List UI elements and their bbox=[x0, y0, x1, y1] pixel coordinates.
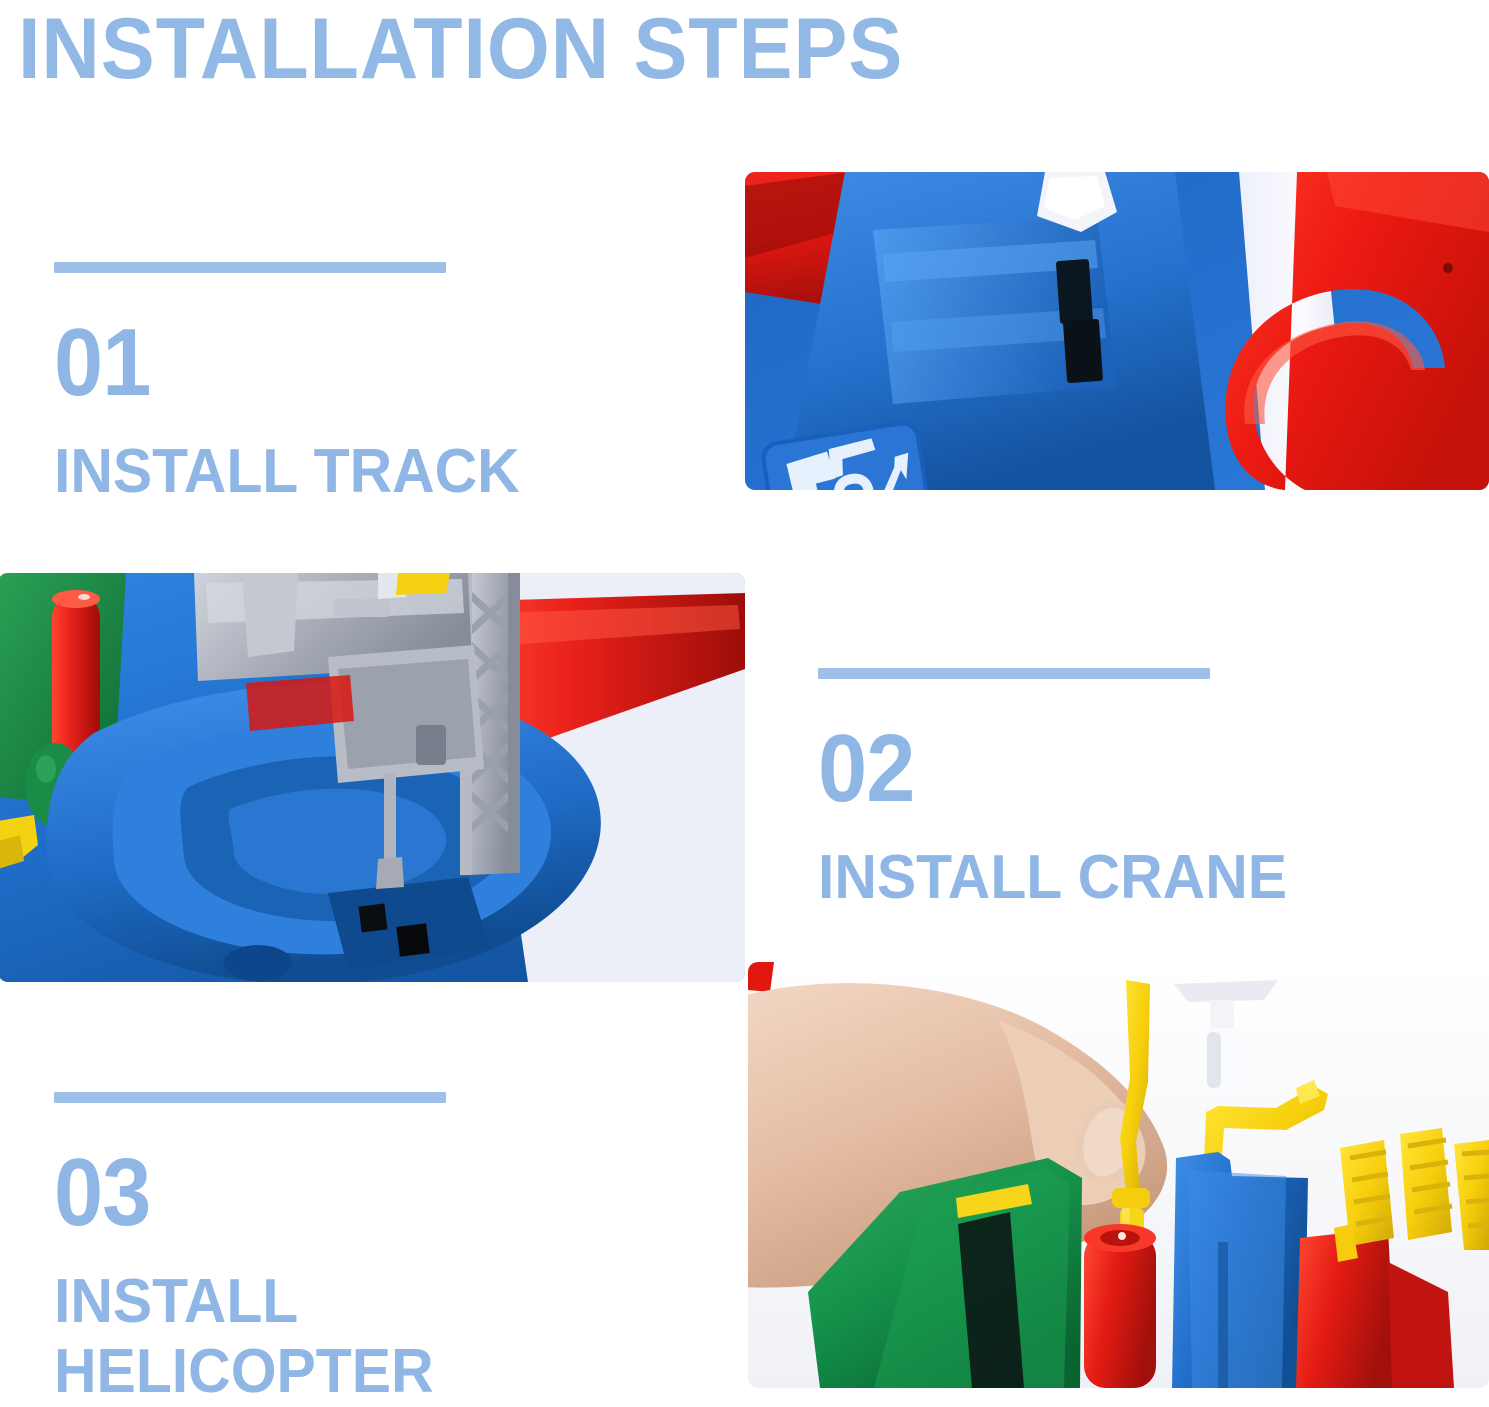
step-rule-02 bbox=[818, 668, 1210, 679]
photo-install-helicopter bbox=[748, 962, 1489, 1388]
step-number-01: 01 bbox=[54, 315, 505, 411]
photo-install-crane-image bbox=[0, 573, 745, 982]
step-label-01: INSTALL TRACK bbox=[54, 437, 520, 507]
photo-install-helicopter-image bbox=[748, 962, 1489, 1388]
step-block-03: 03 INSTALL HELICOPTER bbox=[54, 1092, 454, 1407]
page-title: INSTALLATION STEPS bbox=[18, 0, 903, 104]
step-block-02: 02 INSTALL CRANE bbox=[818, 668, 1312, 913]
photo-install-track-image bbox=[745, 172, 1489, 490]
step-number-03: 03 bbox=[54, 1145, 422, 1241]
step-number-02: 02 bbox=[818, 721, 1272, 817]
step-rule-01 bbox=[54, 262, 446, 273]
photo-install-crane bbox=[0, 573, 745, 982]
step-block-01: 01 INSTALL TRACK bbox=[54, 262, 544, 507]
step-label-02: INSTALL CRANE bbox=[818, 843, 1287, 913]
photo-install-track bbox=[745, 172, 1489, 490]
step-label-03: INSTALL HELICOPTER bbox=[54, 1267, 434, 1407]
step-rule-03 bbox=[54, 1092, 446, 1103]
